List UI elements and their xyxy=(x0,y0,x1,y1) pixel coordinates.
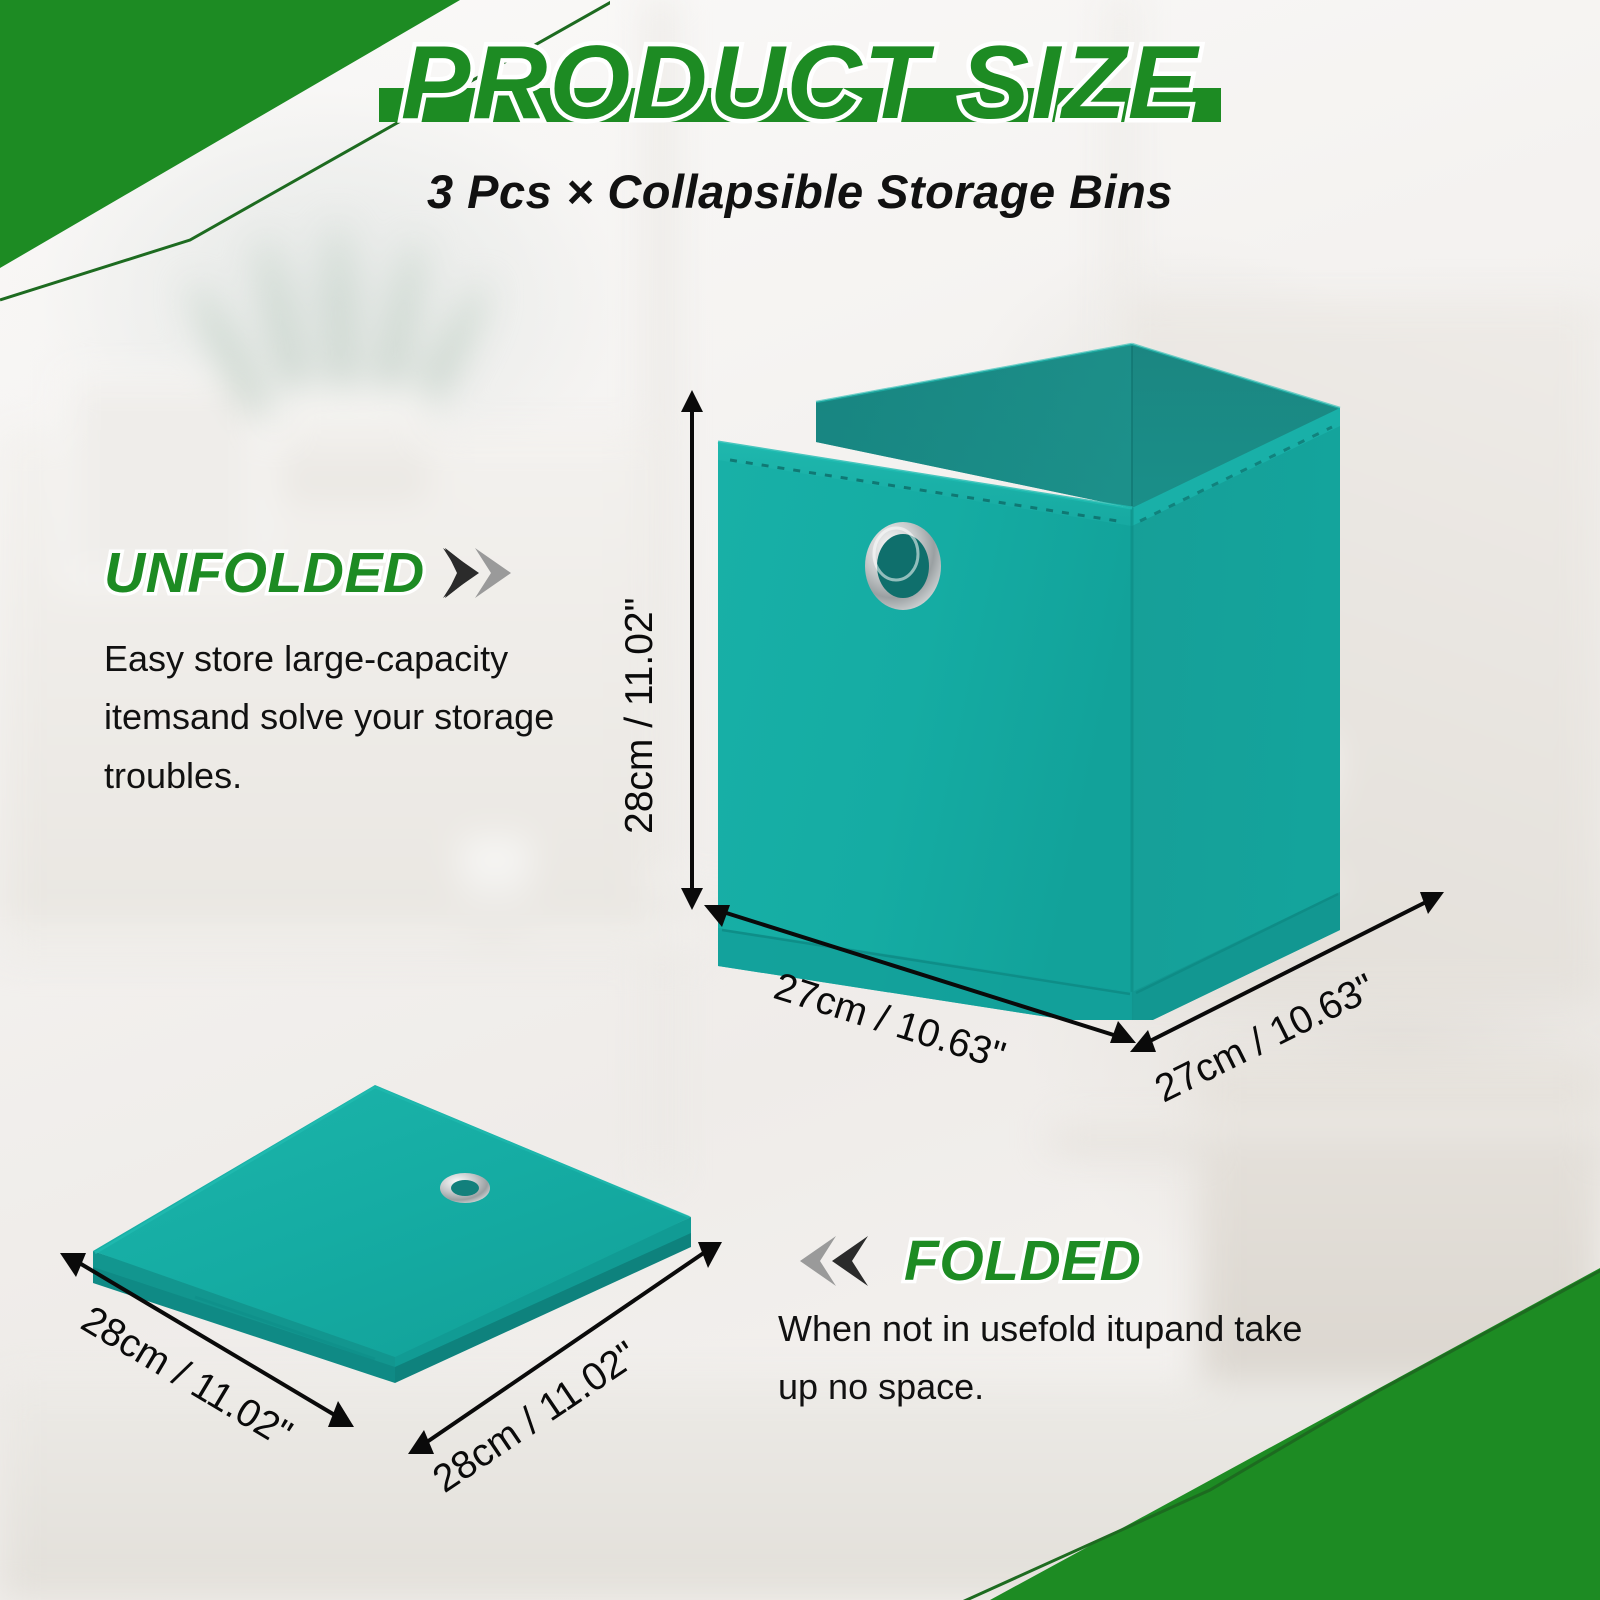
bg-plant-leaf xyxy=(324,222,356,403)
bg-shelf-board-3 xyxy=(1050,1120,1600,1150)
bg-shelf-board-1 xyxy=(0,930,700,956)
page-subtitle: 3 Pcs × Collapsible Storage Bins xyxy=(0,164,1600,219)
dimension-arrow-width-right-folded xyxy=(408,1232,728,1462)
section-heading-unfolded: UNFOLDED xyxy=(104,540,533,606)
section-label-unfolded: UNFOLDED xyxy=(104,540,425,606)
corner-accent-bottom-right xyxy=(960,1240,1600,1600)
dimension-label-height-unfolded: 28cm / 11.02" xyxy=(618,598,662,834)
section-body-folded: When not in usefold itupand take up no s… xyxy=(778,1300,1318,1417)
infographic-canvas: PRODUCT SIZE 3 Pcs × Collapsible Storage… xyxy=(0,0,1600,1600)
grommet-icon xyxy=(440,1173,490,1203)
grommet-icon xyxy=(865,522,941,610)
chevron-left-icon-front xyxy=(810,1234,868,1288)
bg-plant-pot xyxy=(280,390,430,500)
header: PRODUCT SIZE 3 Pcs × Collapsible Storage… xyxy=(0,28,1600,219)
dimension-arrow-height-unfolded xyxy=(672,390,712,910)
chevron-right-icon-back xyxy=(475,546,533,600)
page-title: PRODUCT SIZE xyxy=(401,28,1199,138)
bg-cup-left xyxy=(460,840,530,935)
section-heading-folded: FOLDED xyxy=(778,1228,1141,1294)
double-chevron-left-icon xyxy=(778,1234,868,1288)
double-chevron-right-icon xyxy=(443,546,533,600)
page-title-wrap: PRODUCT SIZE xyxy=(401,28,1199,138)
section-label-folded: FOLDED xyxy=(904,1228,1141,1294)
section-body-unfolded: Easy store large-capacity itemsand solve… xyxy=(104,630,604,805)
